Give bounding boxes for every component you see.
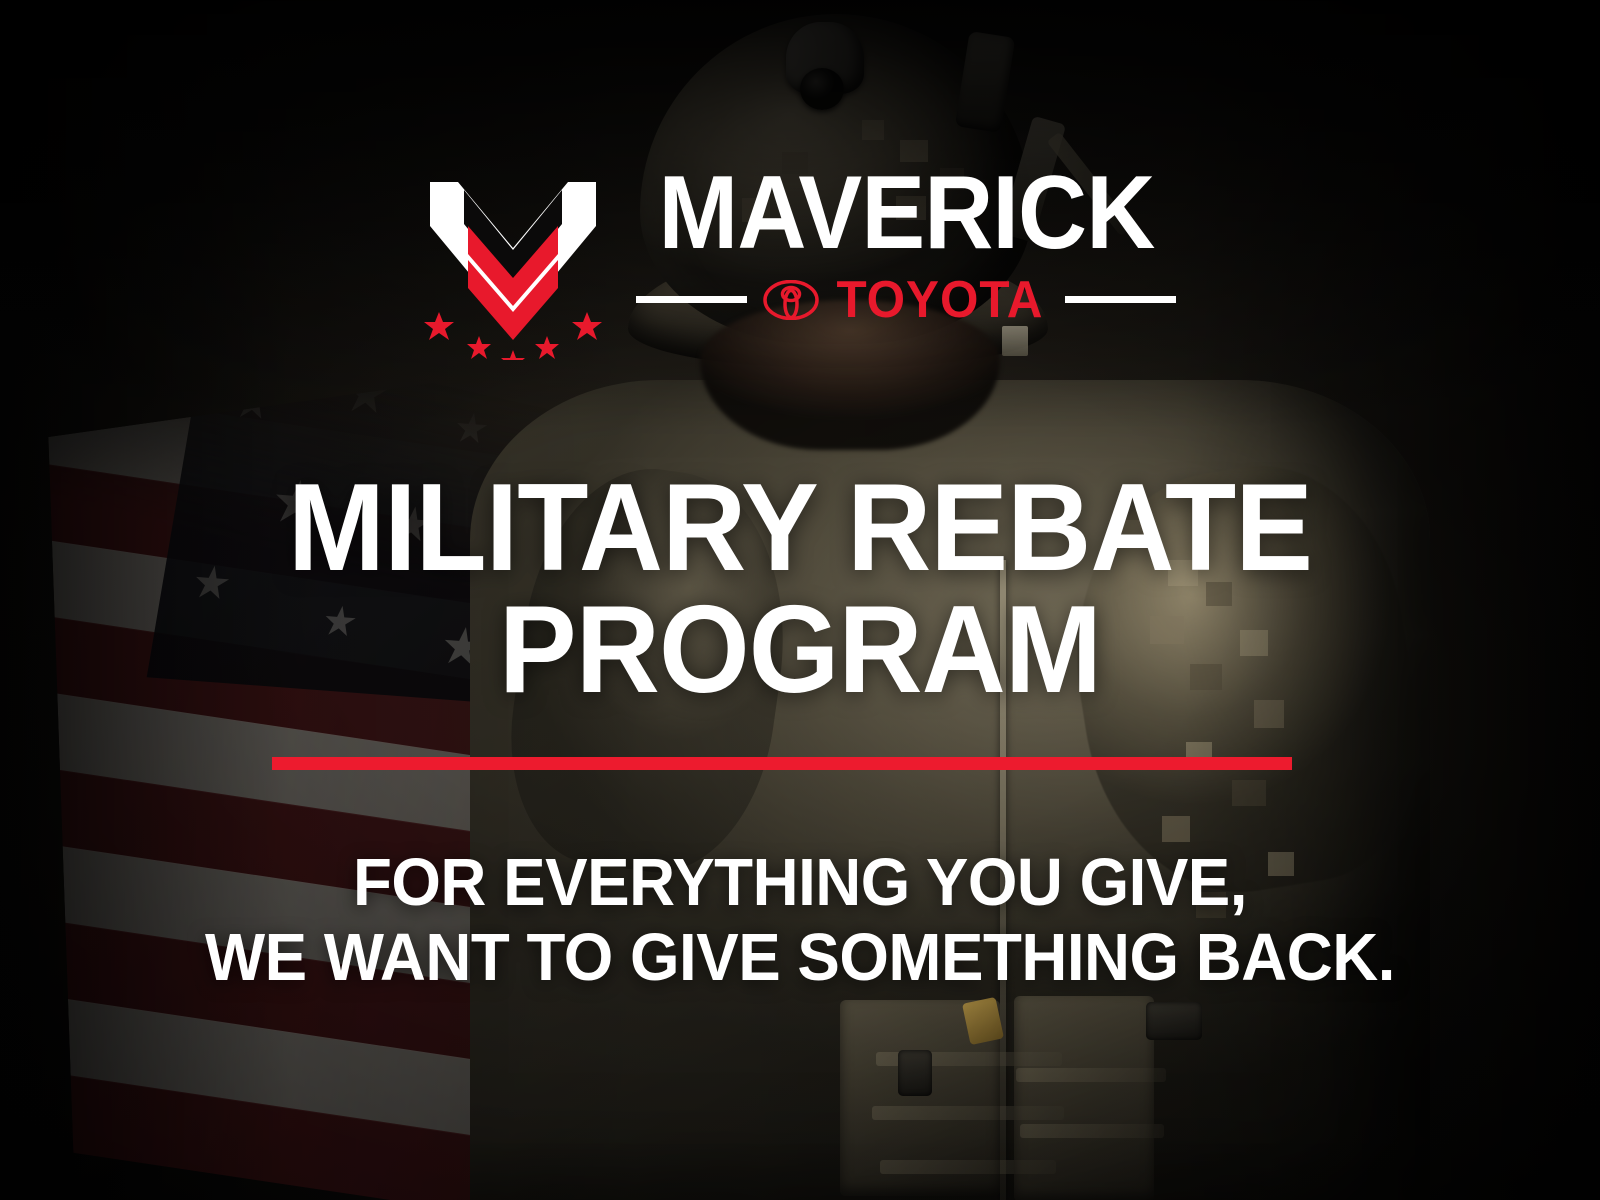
promo-banner: ★ ★ ★ ★ ★ ★ ★ ★ ★ bbox=[0, 0, 1600, 1200]
tagline-line-2: WE WANT TO GIVE SOMETHING BACK. bbox=[40, 920, 1560, 995]
wordmark-block: MAVERICK TOYOTA bbox=[636, 160, 1176, 326]
banner-content: MAVERICK TOYOTA MILITARY R bbox=[0, 0, 1600, 1200]
toyota-ellipse-logo-icon bbox=[763, 280, 819, 320]
toyota-wordmark: TOYOTA bbox=[837, 274, 1044, 326]
brand-lockup: MAVERICK TOYOTA bbox=[0, 160, 1600, 360]
red-divider-bar bbox=[272, 757, 1292, 770]
toyota-mark: TOYOTA bbox=[763, 274, 1049, 326]
tagline-line-1: FOR EVERYTHING YOU GIVE, bbox=[353, 845, 1247, 920]
divider-right bbox=[1065, 296, 1176, 303]
toyota-row: TOYOTA bbox=[636, 274, 1176, 326]
page-title: MILITARY REBATE PROGRAM bbox=[48, 468, 1552, 711]
headline-line-1: MILITARY REBATE bbox=[288, 459, 1312, 597]
headline-line-2: PROGRAM bbox=[48, 590, 1552, 712]
divider-left bbox=[636, 296, 747, 303]
tagline: FOR EVERYTHING YOU GIVE, WE WANT TO GIVE… bbox=[40, 845, 1560, 995]
chevron-rank-emblem-icon bbox=[424, 160, 602, 360]
brand-name: MAVERICK bbox=[658, 168, 1154, 260]
